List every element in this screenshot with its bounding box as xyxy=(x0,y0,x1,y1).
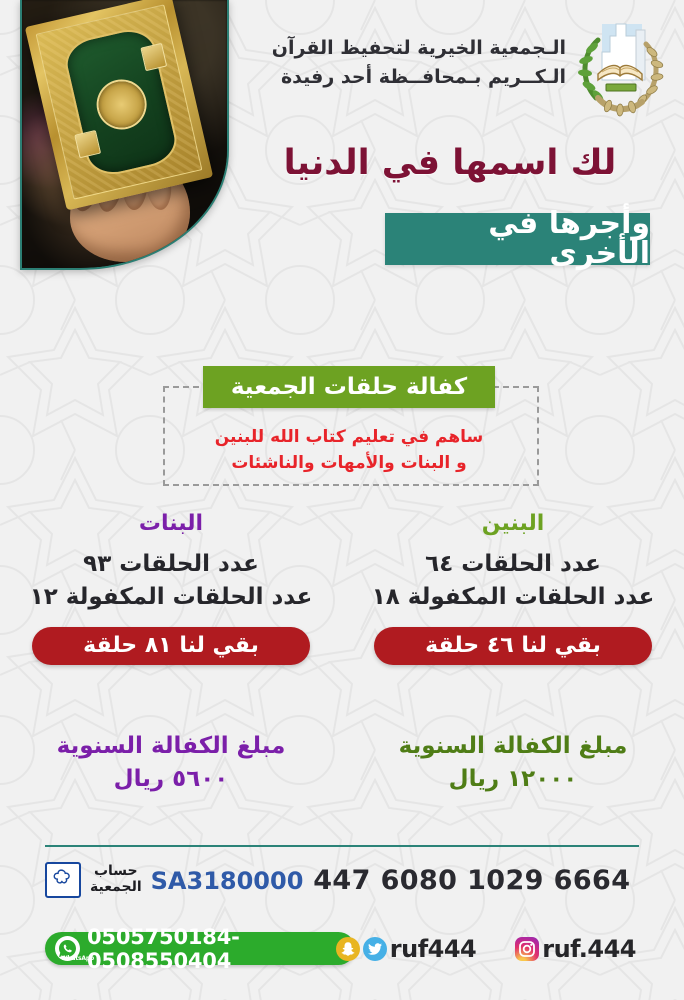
whatsapp-numbers: 0505750184-0508550404 xyxy=(87,925,345,973)
bank-account-row: حساب الجمعية SA3180000 447 6080 1029 666… xyxy=(45,860,639,900)
boys-remaining-badge: بقي لنا ٤٦ حلقة xyxy=(374,627,652,665)
snapchat-twitter-group[interactable]: ruf444 xyxy=(336,935,479,963)
headline-secondary-text: وأجرها في الأخرى xyxy=(385,209,650,269)
girls-remaining-text: بقي لنا ٨١ حلقة xyxy=(83,633,259,658)
iban-number: SA3180000 447 6080 1029 6664 xyxy=(151,865,631,896)
boys-amount-label: مبلغ الكفالة السنوية xyxy=(348,730,678,763)
girls-sponsored-count: عدد الحلقات المكفولة ١٢ xyxy=(6,581,336,614)
girls-annual-amount: مبلغ الكفالة السنوية ٥٦٠٠ ريال xyxy=(6,730,336,795)
program-subtitle-line-2: و البنات والأمهات والناشئات xyxy=(163,450,535,476)
al-rajhi-bank-icon xyxy=(45,862,81,898)
girls-title: البنات xyxy=(6,512,336,536)
iban-prefix: SA3180000 xyxy=(151,867,304,895)
twitter-icon[interactable] xyxy=(363,937,387,961)
program-banner: كفالة حلقات الجمعية xyxy=(203,366,495,408)
poster-root: الـجمعية الخيرية لتحفيظ القرآن الـكــريم… xyxy=(0,0,684,1000)
snapchat-icon[interactable] xyxy=(336,937,360,961)
girls-circles-count: عدد الحلقات ٩٣ xyxy=(6,548,336,581)
organization-name: الـجمعية الخيرية لتحفيظ القرآن الـكــريم… xyxy=(246,34,566,93)
boys-amount-value: ١٢٠٠٠ ريال xyxy=(348,763,678,796)
headline-primary: لك اسمها في الدنيا xyxy=(250,142,650,184)
boys-sponsored-count: عدد الحلقات المكفولة ١٨ xyxy=(348,581,678,614)
program-banner-title: كفالة حلقات الجمعية xyxy=(231,374,467,400)
headline-secondary-banner: وأجرها في الأخرى xyxy=(385,213,650,265)
whatsapp-contact-pill[interactable]: WhatsApp 0505750184-0508550404 xyxy=(45,932,355,965)
snapchat-twitter-handle: ruf444 xyxy=(390,935,476,963)
stats-column-boys: البنين عدد الحلقات ٦٤ عدد الحلقات المكفو… xyxy=(348,512,678,665)
whatsapp-icon: WhatsApp xyxy=(55,936,80,961)
girls-amount-label: مبلغ الكفالة السنوية xyxy=(6,730,336,763)
footer-divider xyxy=(45,845,639,847)
social-contacts-row: WhatsApp 0505750184-0508550404 ruf444 xyxy=(45,932,639,970)
iban-rest: 447 6080 1029 6664 xyxy=(313,865,630,896)
boys-circles-count: عدد الحلقات ٦٤ xyxy=(348,548,678,581)
instagram-icon[interactable] xyxy=(515,937,539,961)
stats-column-girls: البنات عدد الحلقات ٩٣ عدد الحلقات المكفو… xyxy=(6,512,336,665)
association-emblem-icon xyxy=(572,18,668,120)
instagram-handle: ruf.444 xyxy=(542,935,636,963)
program-subtitle-line-1: ساهم في تعليم كتاب الله للبنين xyxy=(163,424,535,450)
girls-amount-value: ٥٦٠٠ ريال xyxy=(6,763,336,796)
account-label: حساب الجمعية xyxy=(90,864,142,895)
org-name-line-1: الـجمعية الخيرية لتحفيظ القرآن xyxy=(246,34,566,63)
whatsapp-wordmark: WhatsApp xyxy=(61,955,94,962)
instagram-group[interactable]: ruf.444 xyxy=(515,935,639,963)
boys-annual-amount: مبلغ الكفالة السنوية ١٢٠٠٠ ريال xyxy=(348,730,678,795)
hero-quran-photo xyxy=(20,0,229,270)
account-label-line-2: الجمعية xyxy=(90,880,142,896)
social-handles-group: ruf444 ruf.444 xyxy=(336,932,639,965)
account-label-line-1: حساب xyxy=(90,864,142,880)
girls-remaining-badge: بقي لنا ٨١ حلقة xyxy=(32,627,310,665)
org-name-line-2: الـكــريم بـمحافــظة أحد رفيدة xyxy=(246,63,566,92)
program-subtitle: ساهم في تعليم كتاب الله للبنين و البنات … xyxy=(163,424,535,477)
boys-remaining-text: بقي لنا ٤٦ حلقة xyxy=(425,633,601,658)
boys-title: البنين xyxy=(348,512,678,536)
